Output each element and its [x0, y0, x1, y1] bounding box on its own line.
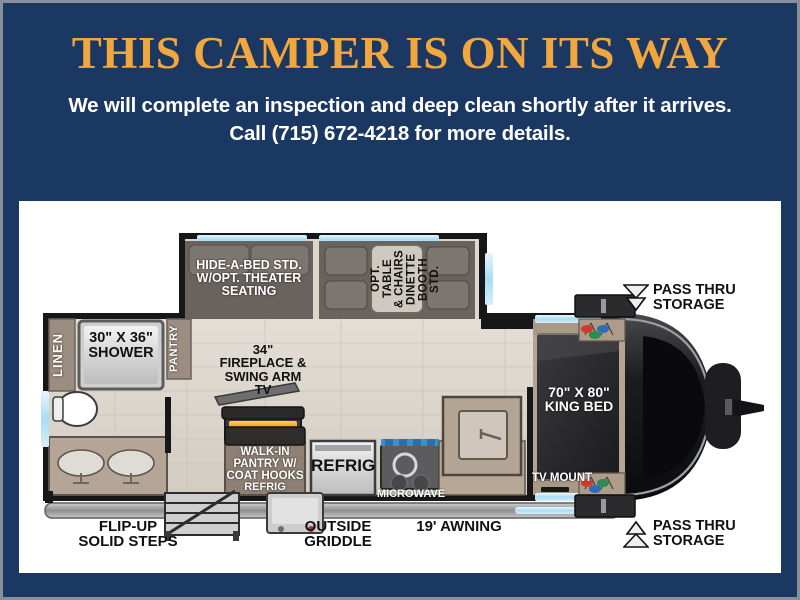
floorplan-drawing: [19, 201, 781, 573]
double-chevron-down-icon: [623, 283, 649, 313]
double-chevron-up-icon: [623, 519, 649, 549]
page-root: THIS CAMPER IS ON ITS WAY We will comple…: [0, 0, 800, 600]
floorplan-panel: LINEN 30" X 36" SHOWER PANTRY HIDE-A-BED…: [19, 201, 781, 573]
banner-headline: THIS CAMPER IS ON ITS WAY: [72, 31, 728, 76]
banner-subtext: We will complete an inspection and deep …: [60, 92, 740, 147]
announcement-banner: THIS CAMPER IS ON ITS WAY We will comple…: [3, 3, 797, 188]
